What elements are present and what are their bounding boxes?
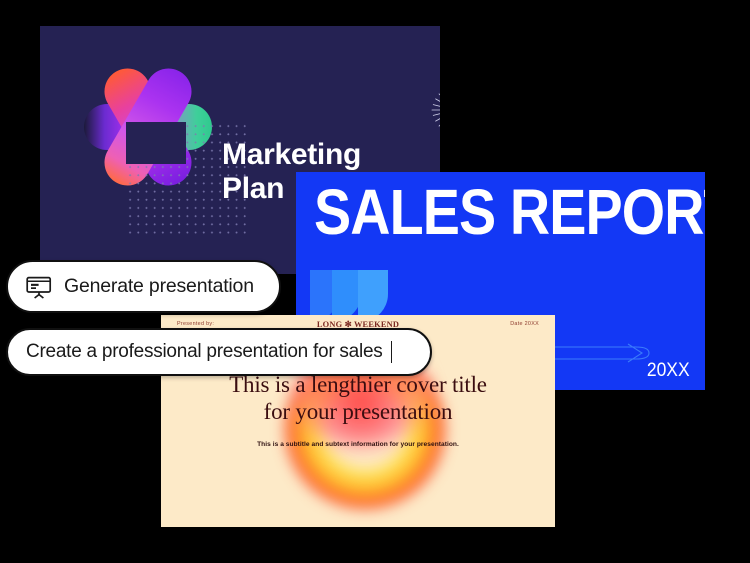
dot-grid-mask (126, 122, 186, 164)
date-label: Date 20XX (510, 321, 539, 327)
text-caret (391, 341, 393, 363)
slide-year-label: 20XX (646, 360, 689, 382)
sunburst-icon (431, 86, 440, 134)
cover-title-line-2: for your presentation (191, 398, 525, 425)
generate-presentation-button[interactable]: Generate presentation (6, 260, 281, 313)
prompt-input-value[interactable]: Create a professional presentation for s… (26, 341, 383, 363)
slide-title-line-1: Marketing (222, 138, 422, 172)
slide-title-cover: This is a lengthier cover title for your… (191, 371, 525, 425)
slide-subtitle-cover: This is a subtitle and subtext informati… (191, 441, 525, 448)
prompt-input-field[interactable]: Create a professional presentation for s… (6, 328, 432, 376)
screenshot-canvas: Marketing Plan (0, 0, 750, 563)
generate-presentation-label: Generate presentation (64, 275, 254, 298)
slide-title-sales-report: SALES REPORT (314, 182, 653, 243)
presentation-board-icon (26, 275, 52, 299)
